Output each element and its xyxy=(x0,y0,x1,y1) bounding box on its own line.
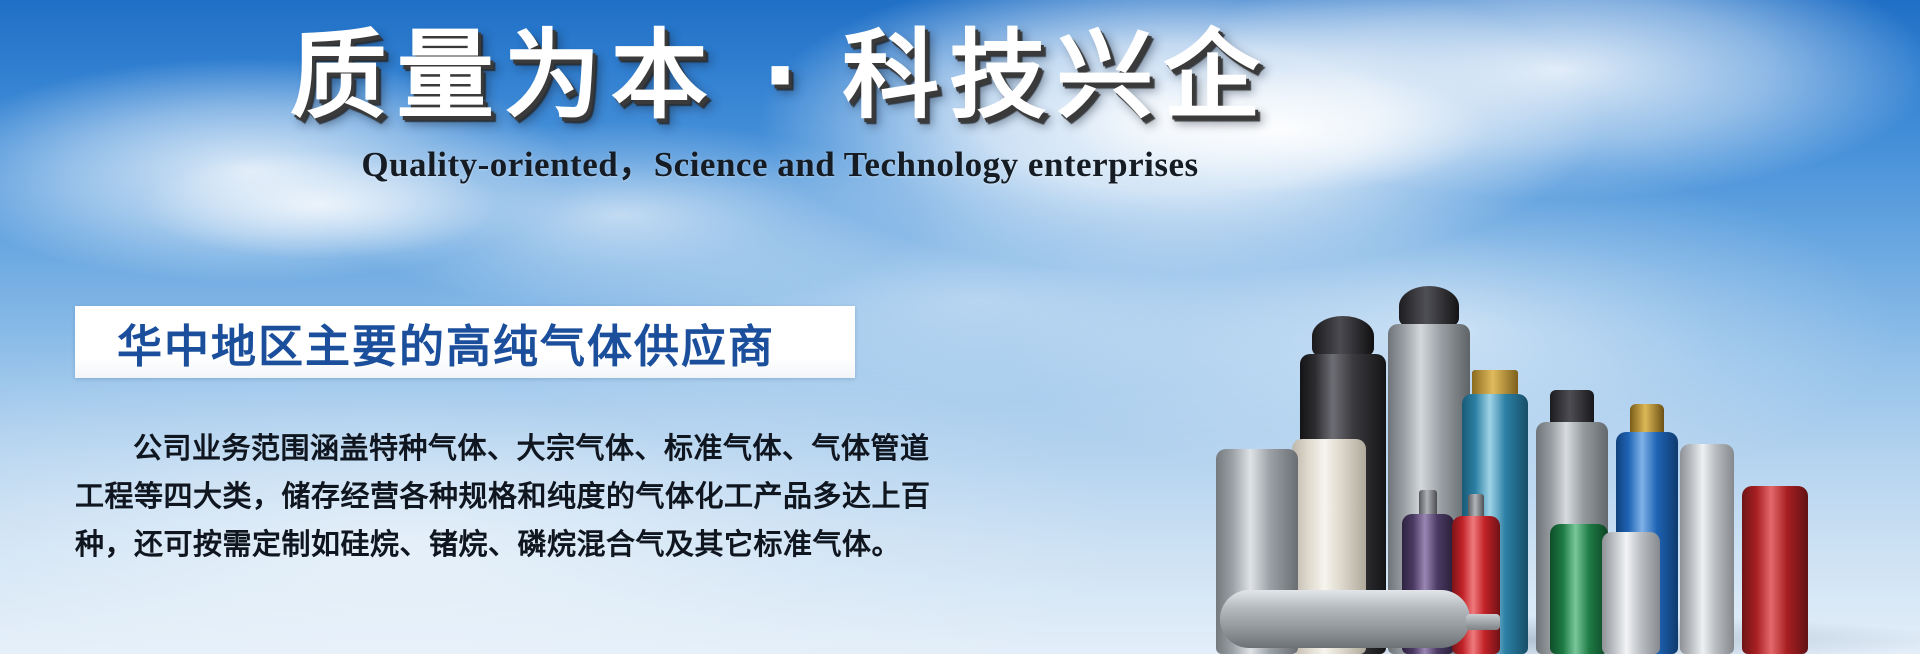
cylinder-body xyxy=(1742,486,1808,654)
page-title: 质量为本 · 科技兴企 xyxy=(0,22,1560,131)
paragraph-line-3: 种，还可按需定制如硅烷、锗烷、磷烷混合气及其它标准气体。 xyxy=(75,521,875,569)
green-small-cylinder xyxy=(1550,524,1608,654)
cylinder-cap xyxy=(1550,390,1594,424)
cylinder-body xyxy=(1680,444,1734,654)
headline-separator: · xyxy=(762,19,799,132)
description-paragraph: 公司业务范围涵盖特种气体、大宗气体、标准气体、气体管道 工程等四大类，储存经营各… xyxy=(75,425,875,569)
cylinder-guard xyxy=(1399,286,1459,326)
cylinder-cap xyxy=(1630,404,1664,434)
silver-aluminium-bottle-front xyxy=(1602,532,1660,654)
silver-aluminium-bottle xyxy=(1680,444,1734,654)
paragraph-line-2: 工程等四大类，储存经营各种规格和纯度的气体化工产品多达上百 xyxy=(75,473,875,521)
cylinder-neck xyxy=(1468,494,1484,518)
cylinder-body xyxy=(1602,532,1660,654)
tagline-text: 华中地区主要的高纯气体供应商 xyxy=(117,310,775,375)
horizontal-grey-tank xyxy=(1220,590,1470,648)
brass-valve xyxy=(1472,370,1518,396)
paragraph-line-1: 公司业务范围涵盖特种气体、大宗气体、标准气体、气体管道 xyxy=(75,425,875,473)
page-subtitle: Quality-oriented，Science and Technology … xyxy=(0,136,1560,187)
gas-cylinders-image xyxy=(1220,234,1920,654)
dark-red-bottle xyxy=(1742,486,1808,654)
tagline-box: 华中地区主要的高纯气体供应商 xyxy=(75,306,855,378)
hero-banner: 质量为本 · 科技兴企 Quality-oriented，Science and… xyxy=(0,0,1920,654)
headline-left: 质量为本 xyxy=(290,19,718,132)
headline-right: 科技兴企 xyxy=(842,19,1270,132)
cylinder-neck xyxy=(1419,490,1437,516)
cylinder-guard xyxy=(1312,316,1374,356)
tank-valve xyxy=(1466,614,1500,630)
cylinder-body xyxy=(1550,524,1608,654)
